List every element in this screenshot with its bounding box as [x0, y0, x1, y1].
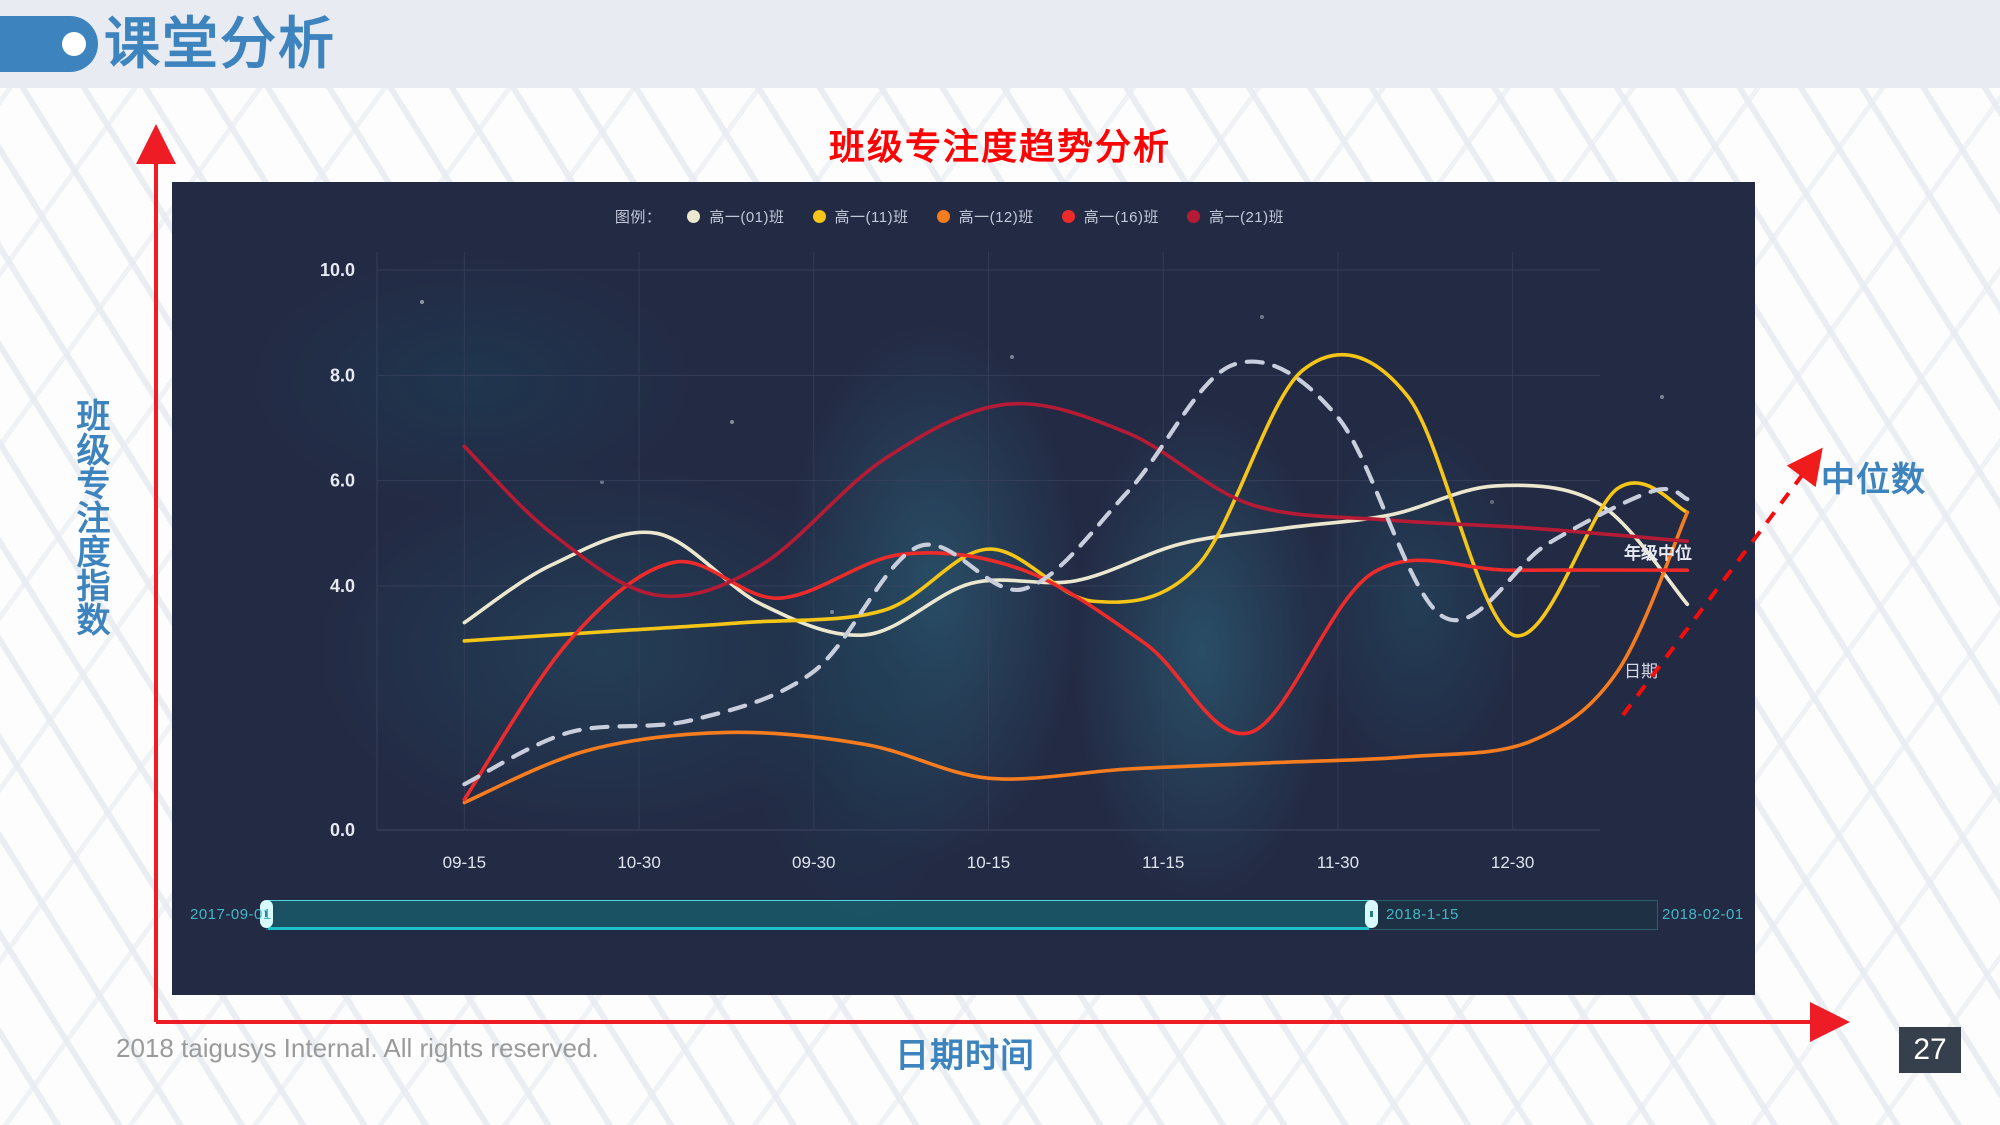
y-tick-label: 0.0 — [330, 820, 355, 840]
series-lines — [464, 355, 1687, 803]
timeline-slider[interactable]: 2017-09-01 2018-1-15 2018-02-01 — [190, 894, 1738, 934]
y-tick-label: 6.0 — [330, 471, 355, 491]
series-line-2 — [464, 512, 1687, 802]
x-tick-label: 12-30 — [1491, 853, 1534, 872]
slider-progress-bar — [268, 927, 1369, 930]
slider-selected-range[interactable] — [266, 900, 1371, 928]
x-tick-label: 09-15 — [443, 853, 486, 872]
y-tick-label: 10.0 — [320, 260, 355, 280]
x-tick-label: 11-30 — [1317, 853, 1359, 872]
page-number-badge: 27 — [1899, 1027, 1961, 1073]
x-tick-label: 09-30 — [792, 853, 835, 872]
median-callout-label: 中位数 — [1821, 452, 1926, 501]
page-title: 课堂分析 — [104, 4, 336, 84]
y-axis-title: 班级专注度指数 — [70, 398, 110, 636]
toggle-switch-icon — [0, 16, 98, 72]
slide-header: 课堂分析 — [0, 0, 2000, 88]
x-tick-label: 10-15 — [967, 853, 1010, 872]
slider-start-label: 2017-09-01 — [190, 906, 272, 923]
handle-grip-icon — [1370, 911, 1373, 917]
y-axis-ticks: 10.08.06.04.00.0 — [320, 260, 355, 840]
slider-handle-label: 2018-1-15 — [1386, 906, 1459, 923]
x-axis-title: 日期时间 — [895, 1028, 1035, 1077]
median-series-label: 年级中位 — [1624, 543, 1692, 563]
chart-title: 班级专注度趋势分析 — [0, 118, 2000, 170]
series-line-0 — [464, 485, 1687, 635]
y-tick-label: 8.0 — [330, 365, 355, 385]
x-tick-label: 10-30 — [617, 853, 660, 872]
series-line-4 — [464, 404, 1687, 597]
slider-end-label: 2018-02-01 — [1662, 906, 1744, 923]
plot-area: 10.08.06.04.00.0 09-1510-3009-3010-1511-… — [172, 182, 1755, 995]
x-axis-name-label: 日期 — [1624, 662, 1658, 681]
x-axis-ticks: 09-1510-3009-3010-1511-1511-3012-30 — [443, 853, 1535, 872]
slider-handle-end[interactable] — [1365, 900, 1378, 928]
x-tick-label: 11-15 — [1142, 853, 1184, 872]
series-line-3 — [464, 553, 1687, 800]
chart-panel: 图例： 高一(01)班 高一(11)班 高一(12)班 高一(16)班 高一(2… — [172, 182, 1755, 995]
y-tick-label: 4.0 — [330, 576, 355, 596]
toggle-knob-icon — [62, 32, 86, 56]
footer-copyright: 2018 taigusys Internal. All rights reser… — [116, 1033, 599, 1064]
